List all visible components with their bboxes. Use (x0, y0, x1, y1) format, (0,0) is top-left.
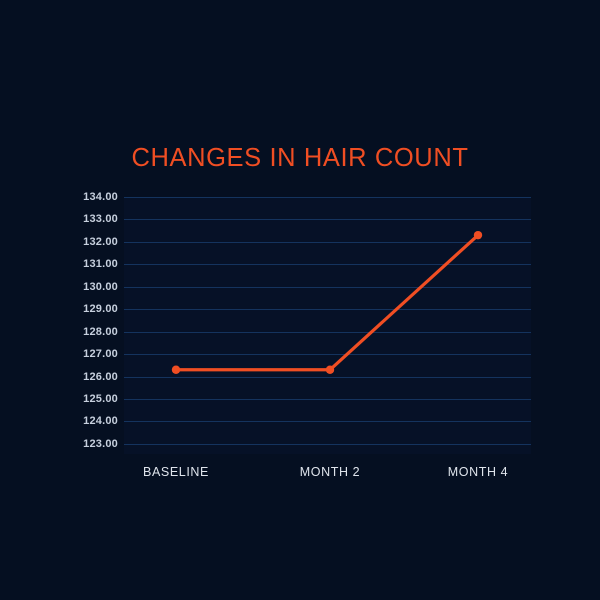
plot-area (124, 197, 531, 454)
x-axis-tick-label-baseline: BASELINE (101, 465, 251, 479)
y-axis-tick-label: 126.00 (0, 371, 118, 383)
gridline (124, 242, 531, 243)
y-axis-tick-label: 129.00 (0, 303, 118, 315)
gridline (124, 264, 531, 265)
gridline (124, 421, 531, 422)
gridline (124, 354, 531, 355)
y-axis-tick-label: 125.00 (0, 393, 118, 405)
y-axis-tick-label: 123.00 (0, 438, 118, 450)
gridline (124, 444, 531, 445)
chart-title: CHANGES IN HAIR COUNT (0, 143, 600, 173)
y-axis-tick-label: 133.00 (0, 213, 118, 225)
y-axis-tick-label: 134.00 (0, 191, 118, 203)
y-axis-tick-label: 130.00 (0, 281, 118, 293)
gridline (124, 219, 531, 220)
y-axis-tick-label: 128.00 (0, 326, 118, 338)
chart-figure: CHANGES IN HAIR COUNT 134.00 133.00 132.… (0, 0, 600, 600)
gridline (124, 377, 531, 378)
y-axis-tick-label: 127.00 (0, 348, 118, 360)
y-axis-tick-label: 124.00 (0, 415, 118, 427)
x-axis-tick-label-month-4: MONTH 4 (403, 465, 553, 479)
gridline (124, 399, 531, 400)
gridline (124, 309, 531, 310)
gridline (124, 287, 531, 288)
gridline (124, 332, 531, 333)
y-axis-tick-label: 132.00 (0, 236, 118, 248)
gridline (124, 197, 531, 198)
y-axis-tick-label: 131.00 (0, 258, 118, 270)
x-axis-tick-label-month-2: MONTH 2 (255, 465, 405, 479)
